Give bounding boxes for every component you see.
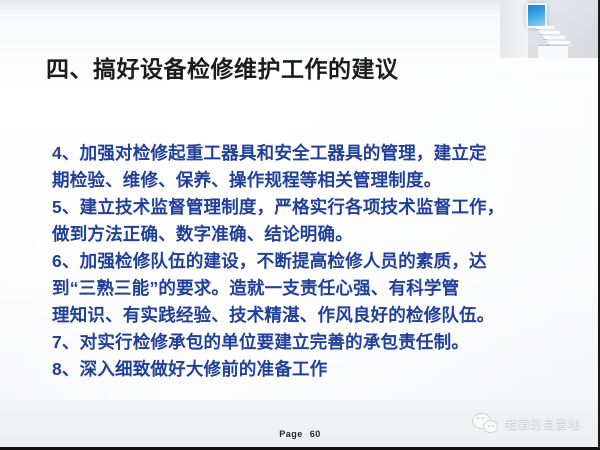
wechat-dot — [482, 417, 484, 419]
body-line: 5、建立技术监督管理制度，严格实行各项技术监督工作， — [52, 194, 572, 221]
body-line: 6、加强检修队伍的建设，不断提高检修人员的素质，达 — [52, 248, 572, 275]
page-label: Page — [279, 429, 303, 439]
page-number: 60 — [310, 429, 321, 439]
photo-wall — [500, 0, 528, 58]
body-line: 理知识、有实践经验、技术精湛、作风良好的检修队伍。 — [52, 302, 572, 329]
blue-doorway — [526, 3, 547, 28]
body-line: 4、加强对检修起重工器具和安全工器具的管理，建立定 — [52, 140, 572, 167]
body-line: 到“三熟三能”的要求。造就一支责任心强、有科学管 — [52, 275, 572, 302]
body-line: 期检验、维修、保养、操作规程等相关管理制度。 — [52, 167, 572, 194]
body-line: 8、深入细致做好大修前的准备工作 — [52, 356, 572, 383]
wechat-icon — [472, 413, 498, 433]
wechat-bubble-small — [483, 420, 498, 433]
page-title: 四、搞好设备检修维护工作的建议 — [46, 50, 399, 84]
wechat-dot — [488, 425, 490, 427]
stair-landing — [538, 46, 568, 58]
slide-body: 4、加强对检修起重工器具和安全工器具的管理，建立定 期检验、维修、保养、操作规程… — [52, 140, 572, 383]
body-line: 7、对实行检修承包的单位要建立完善的承包责任制。 — [52, 329, 572, 356]
watermark: 老宿的自留地 — [472, 413, 580, 433]
wechat-dot — [477, 417, 479, 419]
watermark-label: 老宿的自留地 — [505, 415, 580, 432]
staircase-photo — [500, 0, 598, 58]
wechat-dot — [492, 425, 494, 427]
body-line: 做到方法正确、数字准确、结论明确。 — [52, 221, 572, 248]
presentation-slide: 四、搞好设备检修维护工作的建议 4、加强对检修起重工器具和安全工器具的管理，建立… — [0, 0, 600, 450]
